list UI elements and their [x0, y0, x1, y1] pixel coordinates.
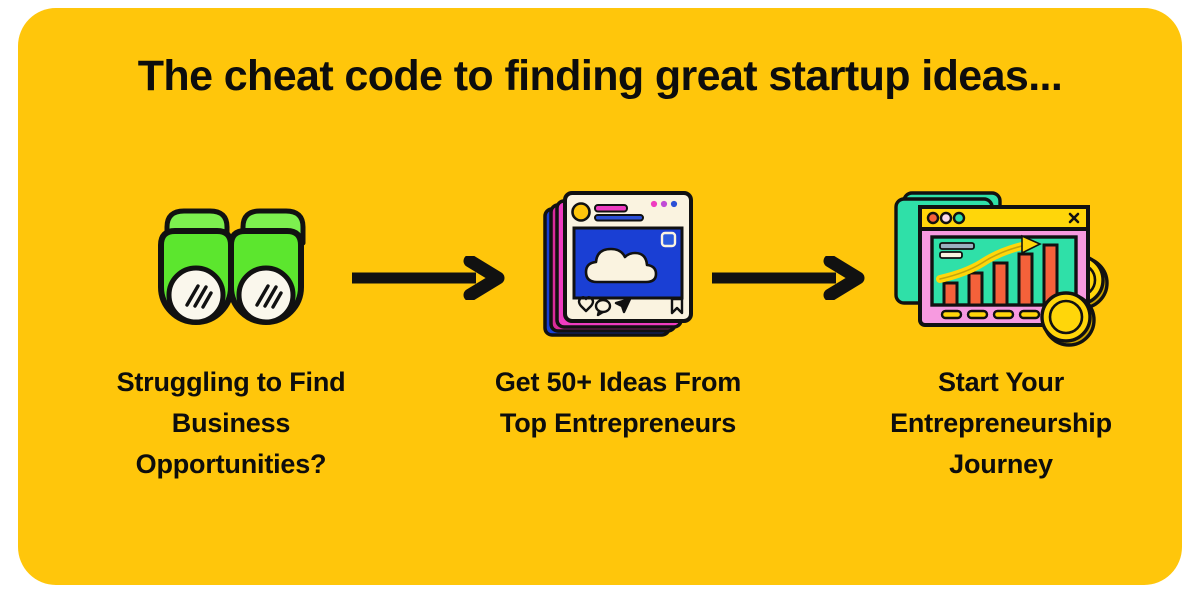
menu-dot — [651, 201, 657, 207]
lens-right — [239, 268, 293, 322]
titlebar-dot — [941, 213, 951, 223]
chart-bar — [1019, 254, 1032, 305]
titlebar-dot — [928, 213, 938, 223]
step-1-caption: Struggling to Find Business Opportunitie… — [66, 362, 396, 485]
step-3-caption: Start Your Entrepreneurship Journey — [836, 362, 1166, 485]
chart-bar — [994, 263, 1007, 305]
carousel-icon — [662, 233, 675, 246]
caption-line: Start Your — [836, 362, 1166, 403]
coin-front — [1042, 293, 1094, 345]
step-3: Start Your Entrepreneurship Journey — [836, 183, 1166, 485]
lens-left — [169, 268, 223, 322]
step-1: Struggling to Find Business Opportunitie… — [66, 183, 396, 485]
chart-bar — [944, 283, 957, 305]
step-2: Get 50+ Ideas From Top Entrepreneurs — [453, 183, 783, 444]
name-bar — [595, 205, 627, 212]
menu-dot — [661, 201, 667, 207]
titlebar-dot — [954, 213, 964, 223]
caption-line: Top Entrepreneurs — [453, 403, 783, 444]
page-title: The cheat code to finding great startup … — [18, 52, 1182, 101]
legend-bar — [940, 243, 974, 249]
chart-bar — [969, 273, 982, 305]
caption-line: Business — [66, 403, 396, 444]
caption-line: Get 50+ Ideas From — [453, 362, 783, 403]
binoculars-icon — [66, 183, 396, 348]
caption-line: Journey — [836, 444, 1166, 485]
menu-dot — [671, 201, 677, 207]
legend-bar — [940, 252, 962, 258]
poster-card: The cheat code to finding great startup … — [18, 8, 1182, 585]
step-2-caption: Get 50+ Ideas From Top Entrepreneurs — [453, 362, 783, 444]
growth-chart-window-icon — [836, 183, 1166, 348]
caption-line: Entrepreneurship — [836, 403, 1166, 444]
caption-line: Struggling to Find — [66, 362, 396, 403]
avatar — [573, 204, 590, 221]
subtitle-bar — [595, 215, 643, 221]
caption-line: Opportunities? — [66, 444, 396, 485]
